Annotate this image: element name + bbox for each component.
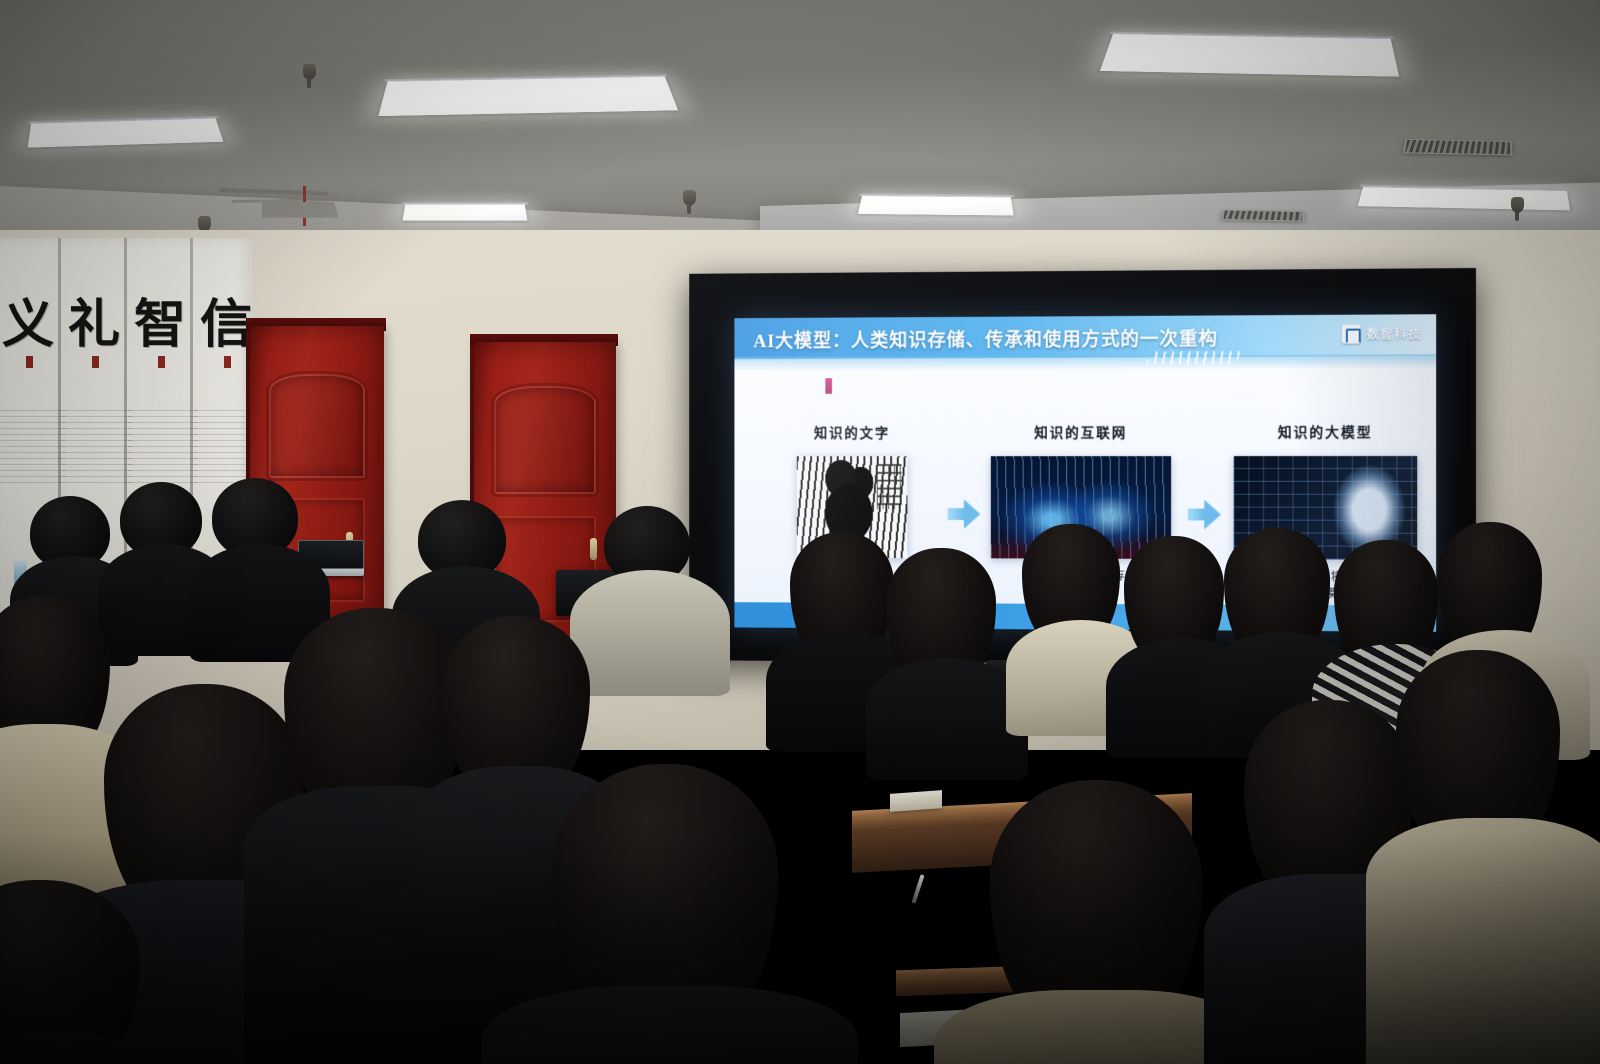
ceiling-light-panel (378, 76, 678, 116)
seal-stamp (26, 356, 33, 368)
sprinkler-head (303, 64, 316, 80)
seal-stamp (224, 356, 231, 368)
sprinkler-head (1511, 197, 1524, 213)
ceiling-mount-plate (262, 202, 339, 218)
logo-mark-icon (1342, 325, 1361, 344)
door-handle[interactable] (590, 538, 597, 560)
notepad (890, 790, 942, 812)
panel-heading: 知识的互联网 (984, 422, 1178, 442)
torso (866, 658, 1028, 780)
slide-title: AI大模型：人类知识存储、传承和使用方式的一次重构 (753, 324, 1218, 353)
panel-heading: 知识的文字 (767, 423, 938, 443)
sprinkler-head (683, 190, 696, 206)
door-upper-panel (269, 374, 366, 478)
ceiling-light-panel (403, 204, 528, 221)
calligraphy-inscription (62, 410, 132, 488)
ceiling-light-panel (1358, 186, 1570, 210)
hvac-vent (1403, 139, 1513, 156)
conference-room-scene: 义 礼 智 信 AI大模型：人类知识存储、传承和使用方式的一次重构 (0, 0, 1600, 1064)
ceiling-light-panel (28, 117, 224, 147)
arrow-icon (1188, 500, 1221, 530)
arrow-icon (948, 499, 981, 528)
seal-stamp (158, 356, 165, 368)
ceiling-light-panel (1100, 33, 1399, 77)
logo-text: 数智科技 (1367, 325, 1423, 342)
title-decoration (1146, 351, 1242, 364)
seal-stamp (92, 356, 99, 368)
slide-accent-mark (825, 378, 832, 394)
calligraphy-inscription (128, 410, 198, 488)
company-logo: 数智科技 (1342, 324, 1422, 343)
torso (1366, 818, 1600, 1064)
ceiling-light-panel (858, 195, 1014, 216)
calligraphy-char-li: 礼 (62, 300, 126, 352)
pen (911, 874, 924, 904)
door-upper-panel (494, 386, 596, 494)
hvac-vent (1221, 209, 1304, 221)
torso (482, 986, 858, 1064)
calligraphy-char-zhi: 智 (128, 300, 192, 352)
torso (570, 570, 730, 696)
calligraphy-inscription (0, 410, 66, 488)
ceiling-bracket (220, 188, 328, 196)
calligraphy-char-yi: 义 (0, 300, 60, 352)
panel-heading: 知识的大模型 (1227, 422, 1424, 442)
